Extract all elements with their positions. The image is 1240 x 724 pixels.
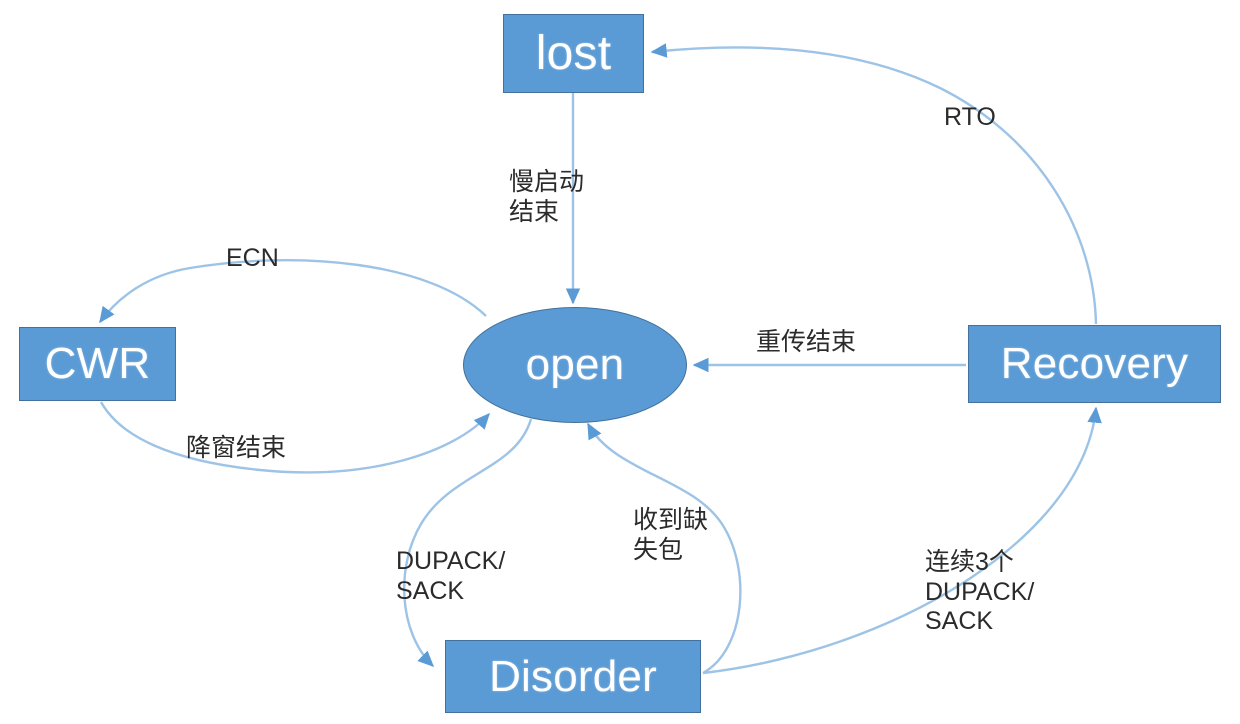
- state-node-recovery[interactable]: Recovery: [968, 325, 1221, 403]
- edge-label-received-missing-packet: 收到缺 失包: [633, 506, 708, 565]
- edge-label-slow-start-end: 慢启动 结束: [509, 168, 584, 227]
- edge-disorder-to-recovery: [703, 408, 1096, 673]
- state-node-cwr[interactable]: CWR: [19, 327, 176, 401]
- state-node-disorder[interactable]: Disorder: [445, 640, 701, 713]
- edge-cwr-to-open: [101, 402, 489, 472]
- edge-open-to-cwr: [100, 260, 486, 322]
- edge-open-to-disorder: [404, 419, 531, 666]
- state-node-disorder-label: Disorder: [489, 655, 657, 699]
- state-node-open[interactable]: open: [463, 307, 687, 423]
- state-node-open-label: open: [526, 343, 625, 387]
- state-node-lost-label: lost: [536, 30, 612, 78]
- edge-label-rto: RTO: [944, 103, 996, 133]
- diagram-canvas: lost CWR open Recovery Disorder 慢启动 结束 E…: [0, 0, 1240, 724]
- edge-label-ecn: ECN: [226, 244, 279, 274]
- edge-recovery-to-lost: [652, 47, 1096, 324]
- edge-label-dupack-sack: DUPACK/ SACK: [396, 547, 505, 606]
- state-node-recovery-label: Recovery: [1001, 342, 1188, 386]
- state-node-lost[interactable]: lost: [503, 14, 644, 93]
- edge-label-three-consecutive-dupack: 连续3个 DUPACK/ SACK: [925, 548, 1034, 637]
- edge-label-window-down-end: 降窗结束: [186, 434, 286, 464]
- edge-label-retransmit-end: 重传结束: [756, 328, 856, 358]
- state-node-cwr-label: CWR: [45, 342, 151, 386]
